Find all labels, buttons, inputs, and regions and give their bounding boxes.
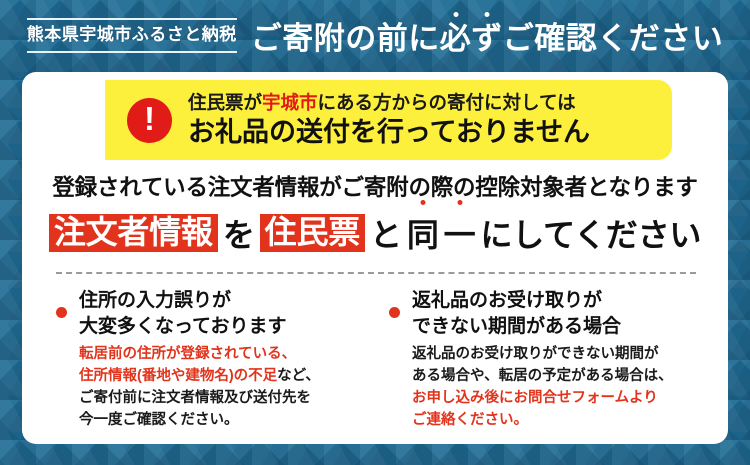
alert-text-block: 住民票が宇城市にある方からの寄付に対しては お礼品の送付を行っておりません: [188, 93, 590, 147]
page-title: ご寄附の前に必ずご確認ください: [251, 23, 724, 54]
promo-banner: 熊本県宇城市ふるさと納税 ご寄附の前に必ずご確認ください ! 住民票が宇城市にあ…: [0, 0, 750, 465]
notes-columns: 住所の入力誤りが 大変多くなっております 転居前の住所が登録されている、 住所情…: [56, 288, 704, 431]
note-title: 返礼品のお受け取りが できない期間がある場合: [412, 288, 621, 339]
exclamation-icon: !: [127, 98, 172, 143]
note-title-line-2: 大変多くなっております: [79, 314, 286, 340]
bullet-dot-icon: [56, 307, 67, 318]
note-title-line-1: 住所の入力誤りが: [79, 288, 286, 314]
middle-connector-2: と: [370, 210, 402, 256]
bullet-dot-icon: [389, 307, 400, 318]
headline-post: ご確認ください: [503, 21, 724, 56]
alert-line1-pre: 住民票が: [188, 92, 262, 113]
alert-line-1: 住民票が宇城市にある方からの寄付に対しては: [188, 93, 590, 114]
chip-orderer-info: 注文者情報: [49, 214, 218, 252]
note-body-line-1: 返礼品のお受け取りができない期間が: [412, 344, 704, 366]
note-heading: 返礼品のお受け取りが できない期間がある場合: [389, 288, 704, 339]
alert-line1-post: にある方からの寄付に対しては: [318, 92, 576, 113]
note-body: 転居前の住所が登録されている、 住所情報(番地や建物名)の不足など、 ご寄付前に…: [79, 344, 371, 431]
brand-rule-bottom: [27, 51, 237, 53]
exclamation-glyph: !: [144, 102, 155, 135]
note-title-line-2: できない期間がある場合: [412, 314, 621, 340]
note-heading: 住所の入力誤りが 大変多くなっております: [56, 288, 371, 339]
note-body: 返礼品のお受け取りができない期間が ある場合や、転居の予定がある場合は、 お申し…: [412, 344, 704, 431]
middle-tail: にしてください: [480, 210, 701, 256]
note-body-line-4: 今一度ご確認ください。: [79, 410, 371, 432]
alert-line1-highlight: 宇城市: [262, 92, 318, 113]
middle-emphasis-1: 同: [407, 210, 439, 256]
note-body-line-2: ある場合や、転居の予定がある場合は、: [412, 366, 704, 388]
note-title-line-1: 返礼品のお受け取りが: [412, 288, 621, 314]
headline-emphasis-1: 必: [440, 23, 472, 54]
headline-pre: ご寄附の前に: [251, 21, 440, 56]
chip-residence-certificate: 住民票: [260, 214, 365, 252]
note-body-line-3: お申し込み後にお問合せフォームより: [412, 388, 704, 410]
middle-line-1: 登録されている注文者情報がご寄附の際の控除対象者となります: [22, 170, 728, 202]
middle-emphasis-2: 一: [444, 210, 476, 256]
banner-header: 熊本県宇城市ふるさと納税 ご寄附の前に必ずご確認ください: [0, 0, 750, 72]
brand-block: 熊本県宇城市ふるさと納税: [27, 18, 237, 54]
note-body-line-1: 転居前の住所が登録されている、: [79, 344, 371, 366]
alert-line-2: お礼品の送付を行っておりません: [188, 117, 590, 147]
brand-name: 熊本県宇城市ふるさと納税: [27, 26, 237, 45]
note-body-line-2-black: など、: [277, 368, 320, 384]
dashed-divider: [56, 272, 696, 274]
brand-rule-top: [27, 18, 237, 20]
middle-connector-1: を: [223, 210, 255, 256]
headline-emphasis-2: ず: [471, 23, 503, 54]
note-body-line-2-red: 住所情報(番地や建物名)の不足: [79, 368, 277, 384]
note-body-line-2: 住所情報(番地や建物名)の不足など、: [79, 366, 371, 388]
warning-alert-box: ! 住民票が宇城市にある方からの寄付に対しては お礼品の送付を行っておりません: [105, 80, 672, 160]
middle-message-block: 登録されている注文者情報がご寄附の際の控除対象者となります 注文者情報を住民票と…: [22, 170, 728, 256]
note-title: 住所の入力誤りが 大変多くなっております: [79, 288, 286, 339]
note-body-line-4: ご連絡ください。: [412, 410, 704, 432]
note-body-line-3: ご寄付前に注文者情報及び送付先を: [79, 388, 371, 410]
note-column-address-errors: 住所の入力誤りが 大変多くなっております 転居前の住所が登録されている、 住所情…: [56, 288, 371, 431]
content-card: ! 住民票が宇城市にある方からの寄付に対しては お礼品の送付を行っておりません …: [22, 72, 728, 444]
note-column-delivery-period: 返礼品のお受け取りが できない期間がある場合 返礼品のお受け取りができない期間が…: [389, 288, 704, 431]
middle-line-2: 注文者情報を住民票と同一にしてください: [22, 210, 728, 256]
